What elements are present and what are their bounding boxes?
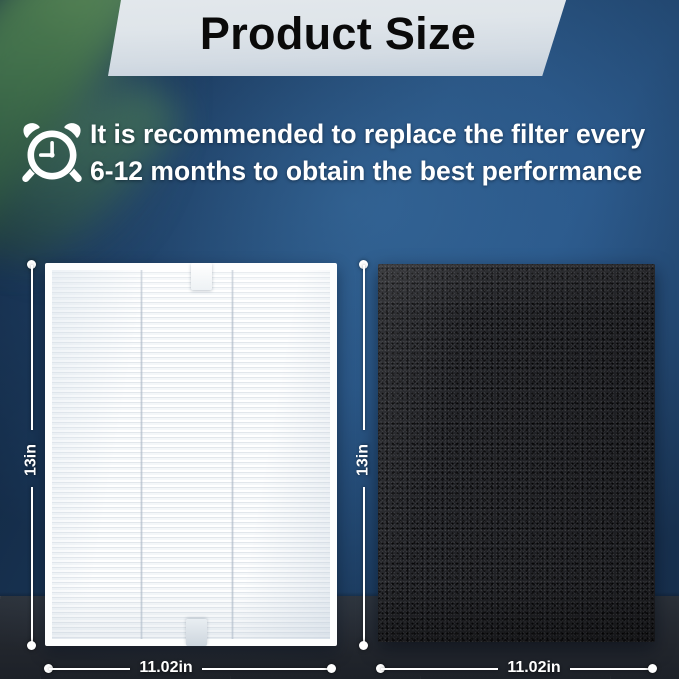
carbon-height-line-upper: [363, 265, 365, 430]
hepa-width-line-right: [202, 668, 328, 670]
hepa-width-line-left: [49, 668, 130, 670]
page-title: Product Size: [108, 0, 568, 76]
carbon-width-dot-right: [648, 664, 657, 673]
product-size-infographic: Product Size It is recommended to replac…: [0, 0, 679, 679]
carbon-height-line-lower: [363, 487, 365, 645]
hepa-height-line-upper: [31, 265, 33, 430]
hepa-height-dot-bottom: [27, 641, 36, 650]
hepa-height-line-lower: [31, 487, 33, 645]
black-carbon-filter: [378, 264, 655, 642]
notice-line-2: 6-12 months to obtain the best performan…: [90, 153, 674, 190]
carbon-height-label: 13in: [355, 438, 373, 483]
white-hepa-filter: [45, 263, 337, 646]
replacement-notice-text: It is recommended to replace the filter …: [90, 116, 674, 190]
hepa-width-dot-right: [327, 664, 336, 673]
carbon-width-line-right: [570, 668, 649, 670]
hepa-shading-overlay: [52, 270, 330, 639]
carbon-height-dot-bottom: [359, 641, 368, 650]
hepa-width-label: 11.02in: [131, 659, 201, 677]
hepa-top-pull-tab: [191, 263, 212, 290]
carbon-width-line-left: [381, 668, 498, 670]
hepa-height-label: 13in: [23, 438, 41, 483]
carbon-width-label: 11.02in: [499, 659, 569, 677]
carbon-shading-overlay: [378, 264, 655, 642]
hepa-bottom-pull-tab: [186, 619, 207, 646]
alarm-clock-icon: [17, 116, 87, 186]
notice-line-1: It is recommended to replace the filter …: [90, 116, 674, 153]
